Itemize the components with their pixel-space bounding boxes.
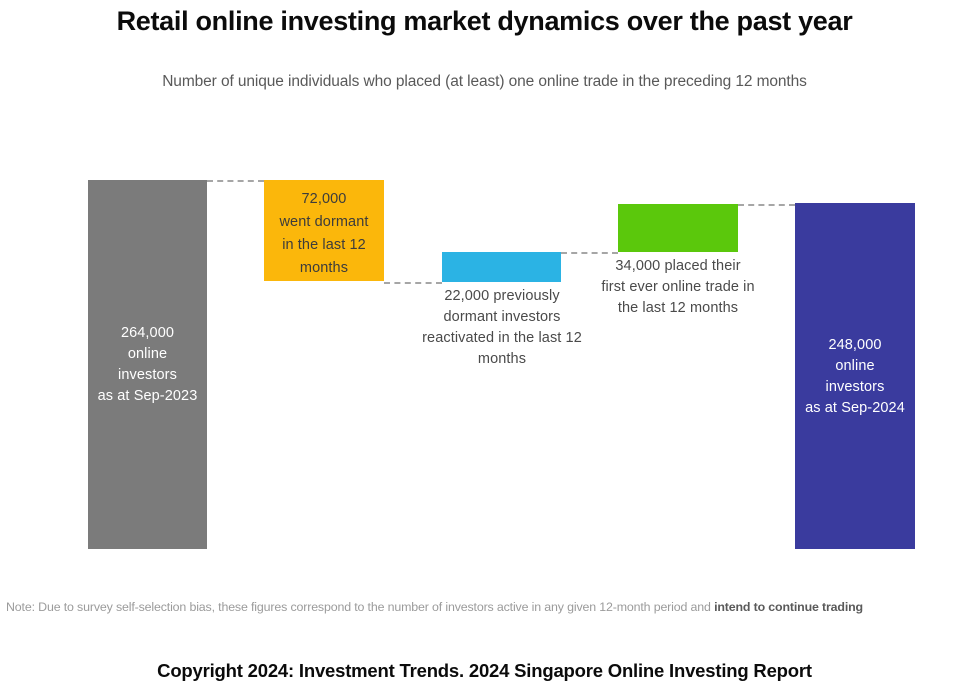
slide-canvas: Retail online investing market dynamics … (0, 0, 969, 693)
footnote: Note: Due to survey self-selection bias,… (6, 600, 963, 614)
bar-reactivated[interactable] (442, 252, 561, 282)
connector-dormant-to-reactivated (384, 282, 442, 284)
bar-went-dormant[interactable]: 72,000 went dormant in the last 12 month… (264, 180, 384, 281)
bar-start-2023[interactable]: 264,000 online investors as at Sep-2023 (88, 180, 207, 549)
footnote-emphasis: intend to continue trading (714, 600, 863, 614)
footnote-text: Note: Due to survey self-selection bias,… (6, 600, 714, 614)
connector-new-to-end (738, 204, 795, 206)
connector-reactivated-to-new (561, 252, 618, 254)
bar-label-went-dormant: 72,000 went dormant in the last 12 month… (264, 188, 384, 280)
bar-label-end-2024: 248,000 online investors as at Sep-2024 (795, 335, 915, 419)
bar-first-ever-trade[interactable] (618, 204, 738, 252)
bar-label-first-ever-trade: 34,000 placed their first ever online tr… (588, 256, 768, 319)
bar-label-reactivated: 22,000 previously dormant investors reac… (412, 286, 592, 370)
copyright-line: Copyright 2024: Investment Trends. 2024 … (0, 660, 969, 682)
bar-end-2024[interactable]: 248,000 online investors as at Sep-2024 (795, 203, 915, 549)
connector-start-to-dormant (207, 180, 264, 182)
waterfall-chart: 264,000 online investors as at Sep-2023 … (0, 0, 969, 600)
bar-label-start-2023: 264,000 online investors as at Sep-2023 (88, 323, 207, 407)
